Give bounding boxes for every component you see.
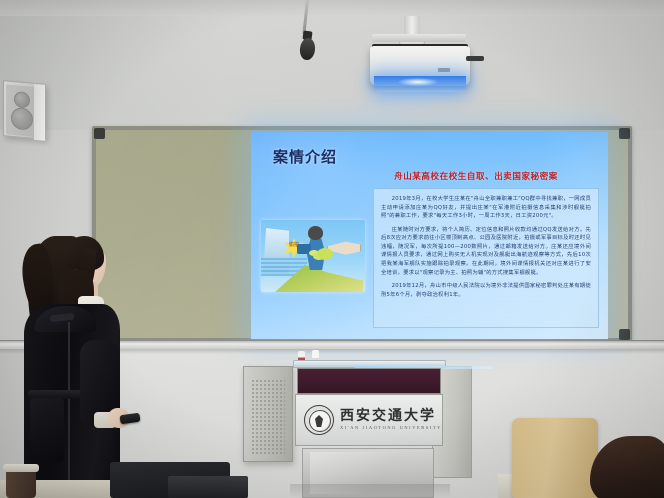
speaker-tweeter [14,91,30,108]
projected-slide: 案情介绍 舟山某高校在校生自取、出卖国家秘密案 偷拍 2019年3月，在校大学生… [251,132,608,339]
wooden-chair[interactable] [512,418,598,498]
slide-paragraph-2: 庄某随时对方要求，将个人简历、定位信息和照片收款均通过QQ发送给对方。先后8次应… [381,226,591,277]
university-name-english: XI'AN JIAOTONG UNIVERSITY [340,426,442,430]
presentation-clicker[interactable] [119,413,140,425]
lectern[interactable]: 西安交通大学 XI'AN JIAOTONG UNIVERSITY [240,356,472,498]
board-corner-top-left [94,128,105,139]
upper-wall-shading [0,0,664,130]
ceiling-band [0,0,664,16]
speaker-woofer [11,107,33,131]
money-icon [317,248,333,260]
board-corner-bottom-right [619,329,630,340]
camera-icon [297,244,311,254]
projector-vent [438,68,450,72]
lectern-desktop[interactable] [293,360,446,368]
projector-mount-plate [372,34,466,42]
lectern-speaker-grille [251,379,285,455]
slide-body-textbox: 2019年3月，在校大学生庄某在"舟山全职兼职兼工"QQ群中寻找兼职，一网成员主… [373,188,599,328]
slide-title: 案情介绍 [273,146,337,167]
university-name-chinese: 西安交通大学 [340,409,442,423]
speaker-face [6,84,36,137]
speaker-side-panel [34,84,45,141]
board-corner-top-right [619,128,630,139]
university-seal-icon [304,405,334,435]
wall-speaker [3,80,46,140]
lectern-left-speaker-column [243,366,293,462]
presenter [22,222,142,498]
lectern-maroon-panel [297,368,441,394]
slide-headline: 舟山某高校在校生自取、出卖国家秘密案 [351,170,601,182]
presenter-coat-flap [30,398,64,462]
foreground-book [168,476,248,498]
projector-side-connector [466,56,484,61]
lectern-university-plaque: 西安交通大学 XI'AN JIAOTONG UNIVERSITY [295,394,443,446]
foreground-cup-lid [3,464,39,472]
presenter-coat-seam [68,322,70,492]
foreground-cup [6,468,36,498]
lectern-base-shadow [290,484,450,498]
person-head-shape [308,226,323,240]
slide-paragraph-3: 2019年12月，舟山市中级人民法院以为境外非法提供国家秘密罪判处庄某有期徒刑5… [381,282,591,299]
spy-photographing-ship-illustration: 偷拍 [261,220,365,292]
slide-paragraph-1: 2019年3月，在校大学生庄某在"舟山全职兼职兼工"QQ群中寻找兼职，一网成员主… [381,195,591,221]
projector-lens-hotspot [398,78,438,86]
classroom-photo: 案情介绍 舟山某高校在校生自取、出卖国家秘密案 偷拍 2019年3月，在校大学生… [0,0,664,498]
